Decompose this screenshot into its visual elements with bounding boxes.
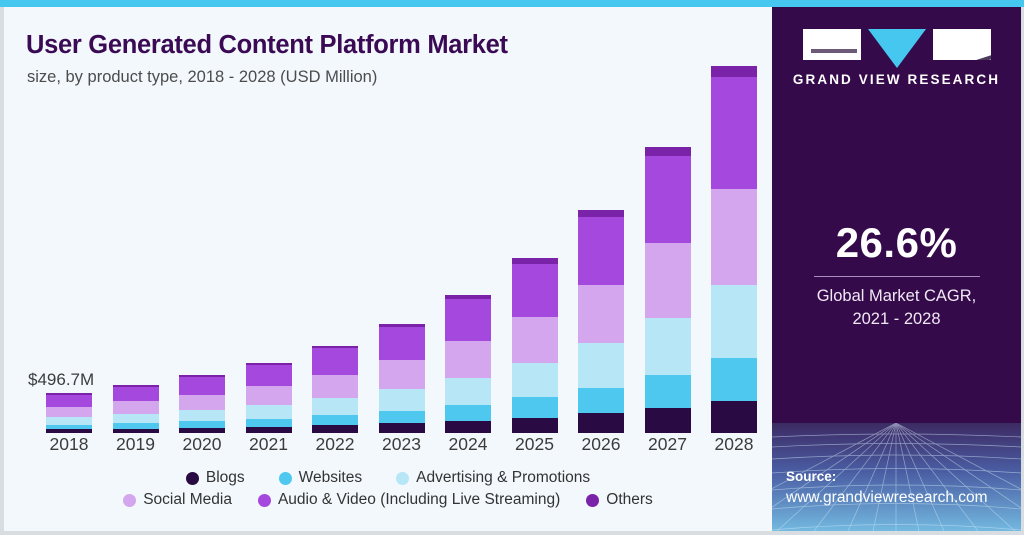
bar-segment (645, 318, 691, 375)
bar-segment (179, 410, 225, 421)
top-accent-bar (0, 0, 1024, 7)
bar-segment (512, 418, 558, 433)
bar-segment (645, 408, 691, 433)
x-axis-tick: 2027 (645, 434, 691, 455)
bar-segment (379, 360, 425, 389)
legend-swatch-icon (396, 472, 409, 485)
bar-segment (46, 417, 92, 425)
legend-label: Social Media (143, 491, 232, 509)
source-label: Source: (786, 468, 988, 487)
chart-screenshot: User Generated Content Platform Market s… (0, 0, 1024, 535)
chart-legend: BlogsWebsitesAdvertising & Promotions So… (26, 469, 750, 509)
bar-stack (711, 66, 757, 433)
bar-segment (645, 147, 691, 156)
bar-segment (113, 401, 159, 413)
bar-segment (379, 411, 425, 424)
bar-segment (113, 429, 159, 433)
bar-segment (445, 405, 491, 421)
brand-name: GRAND VIEW RESEARCH (793, 72, 1000, 87)
bar-segment (246, 386, 292, 405)
chart-title: User Generated Content Platform Market (26, 31, 508, 60)
bar-segment (46, 395, 92, 407)
chart-panel: User Generated Content Platform Market s… (4, 7, 768, 531)
bar-segment (179, 428, 225, 433)
bar-segment (445, 421, 491, 433)
cagr-divider (814, 276, 980, 277)
bar-segment (246, 365, 292, 386)
bar-segment (578, 413, 624, 433)
x-axis-tick: 2026 (578, 434, 624, 455)
legend-item[interactable]: Others (586, 491, 653, 509)
legend-label: Advertising & Promotions (416, 469, 590, 487)
bar-stack (46, 393, 92, 433)
logo-triangle-icon (868, 29, 926, 68)
bar-segment (312, 398, 358, 415)
bar-segment (711, 77, 757, 189)
bar-segment (645, 156, 691, 243)
legend-label: Blogs (206, 469, 245, 487)
bar-stack (645, 147, 691, 433)
bar-stack (578, 210, 624, 433)
bar-segment (445, 299, 491, 341)
legend-label: Audio & Video (Including Live Streaming) (278, 491, 560, 509)
bar-stack (445, 295, 491, 433)
cagr-caption-line2: 2021 - 2028 (772, 308, 1021, 331)
bar-segment (379, 423, 425, 433)
legend-item[interactable]: Social Media (123, 491, 232, 509)
x-axis-tick: 2020 (179, 434, 225, 455)
x-axis-tick: 2021 (246, 434, 292, 455)
bar-stack (512, 258, 558, 433)
bar-segment (179, 395, 225, 410)
x-axis-tick: 2022 (312, 434, 358, 455)
x-axis: 2018201920202021202220232024202520262027… (26, 434, 750, 460)
bar-stack (312, 346, 358, 433)
bar-segment (246, 427, 292, 433)
bar-segment (645, 243, 691, 318)
bar-segment (179, 421, 225, 428)
bar-segment (578, 343, 624, 387)
bar-segment (312, 425, 358, 433)
cagr-value: 26.6% (772, 219, 1021, 267)
bar-segment (46, 407, 92, 417)
legend-swatch-icon (279, 472, 292, 485)
source-url: www.grandviewresearch.com (786, 487, 988, 509)
plot-area (26, 103, 750, 433)
bar-stack (379, 324, 425, 433)
legend-item[interactable]: Audio & Video (Including Live Streaming) (258, 491, 560, 509)
bar-segment (711, 401, 757, 433)
bar-segment (711, 66, 757, 77)
bar-segment (445, 341, 491, 377)
legend-swatch-icon (123, 494, 136, 507)
chart-subtitle: size, by product type, 2018 - 2028 (USD … (27, 68, 377, 87)
legend-row-bottom: Social MediaAudio & Video (Including Liv… (123, 491, 653, 509)
bar-segment (578, 210, 624, 217)
bar-segment (113, 414, 159, 423)
bar-segment (312, 375, 358, 398)
bar-segment (312, 348, 358, 375)
bar-segment (578, 217, 624, 285)
legend-swatch-icon (586, 494, 599, 507)
legend-item[interactable]: Advertising & Promotions (396, 469, 590, 487)
logo-r-icon (933, 29, 991, 60)
bar-segment (711, 189, 757, 286)
bar-segment (512, 264, 558, 317)
logo-marks (803, 29, 991, 63)
bar-segment (445, 378, 491, 405)
x-axis-tick: 2028 (711, 434, 757, 455)
source-block: Source: www.grandviewresearch.com (786, 468, 988, 509)
frame-border-bottom (0, 531, 1024, 535)
legend-label: Others (606, 491, 653, 509)
bar-segment (578, 388, 624, 414)
bar-segment (246, 405, 292, 419)
bar-segment (46, 429, 92, 433)
bar-segment (246, 419, 292, 427)
bar-stack (246, 363, 292, 433)
bar-stack (179, 375, 225, 433)
legend-row-top: BlogsWebsitesAdvertising & Promotions (186, 469, 590, 487)
logo-g-icon (803, 29, 861, 60)
bar-segment (512, 397, 558, 417)
x-axis-tick: 2018 (46, 434, 92, 455)
bar-segment (379, 327, 425, 360)
cagr-caption-line1: Global Market CAGR, (772, 285, 1021, 308)
legend-label: Websites (299, 469, 362, 487)
legend-item[interactable]: Blogs (186, 469, 245, 487)
x-axis-tick: 2024 (445, 434, 491, 455)
bar-segment (645, 375, 691, 408)
bar-segment (379, 389, 425, 411)
bar-segment (512, 363, 558, 398)
bar-segment (512, 317, 558, 363)
bar-segment (578, 285, 624, 344)
x-axis-tick: 2019 (113, 434, 159, 455)
bar-segment (711, 285, 757, 358)
bar-stack (113, 385, 159, 433)
legend-swatch-icon (186, 472, 199, 485)
bar-segment (312, 415, 358, 425)
legend-item[interactable]: Websites (279, 469, 362, 487)
cagr-block: 26.6% Global Market CAGR, 2021 - 2028 (772, 219, 1021, 332)
brand-logo: GRAND VIEW RESEARCH (772, 29, 1021, 87)
bar-segment (711, 358, 757, 401)
x-axis-tick: 2023 (379, 434, 425, 455)
cagr-caption: Global Market CAGR, 2021 - 2028 (772, 285, 1021, 332)
bar-segment (179, 377, 225, 394)
legend-swatch-icon (258, 494, 271, 507)
bar-segment (113, 387, 159, 401)
brand-sidebar: GRAND VIEW RESEARCH 26.6% Global Market … (772, 7, 1021, 531)
x-axis-tick: 2025 (512, 434, 558, 455)
